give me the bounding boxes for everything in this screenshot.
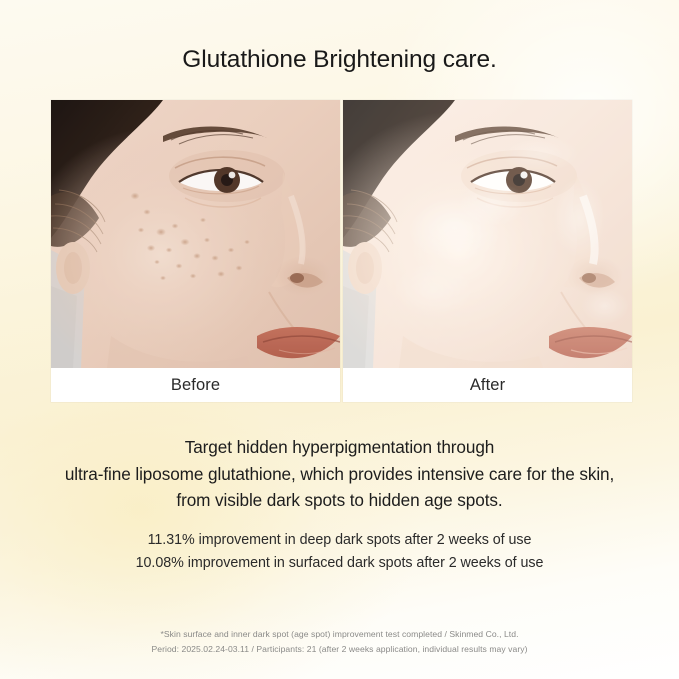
stat-surfaced-dark-spots: 10.08% improvement in surfaced dark spot… xyxy=(0,552,679,575)
after-face-image xyxy=(343,100,632,368)
after-card: After xyxy=(343,100,632,402)
before-face-image xyxy=(51,100,340,368)
before-card: Before xyxy=(51,100,340,402)
page-title: Glutathione Brightening care. xyxy=(0,46,679,74)
clinical-stats-block: 11.31% improvement in deep dark spots af… xyxy=(0,529,679,575)
before-after-comparison: Before xyxy=(51,100,632,402)
description-line-2: ultra-fine liposome glutathione, which p… xyxy=(0,461,679,488)
before-label: Before xyxy=(51,368,340,402)
description-line-3: from visible dark spots to hidden age sp… xyxy=(0,487,679,514)
advertisement-canvas: Glutathione Brightening care. xyxy=(0,0,679,679)
footnote-block: *Skin surface and inner dark spot (age s… xyxy=(0,627,679,657)
description-line-1: Target hidden hyperpigmentation through xyxy=(0,434,679,461)
footnote-line-2: Period: 2025.02.24-03.11 / Participants:… xyxy=(0,642,679,657)
description-block: Target hidden hyperpigmentation through … xyxy=(0,434,679,514)
before-photo xyxy=(51,100,340,368)
after-label: After xyxy=(343,368,632,402)
footnote-line-1: *Skin surface and inner dark spot (age s… xyxy=(0,627,679,642)
after-photo xyxy=(343,100,632,368)
stat-deep-dark-spots: 11.31% improvement in deep dark spots af… xyxy=(0,529,679,552)
